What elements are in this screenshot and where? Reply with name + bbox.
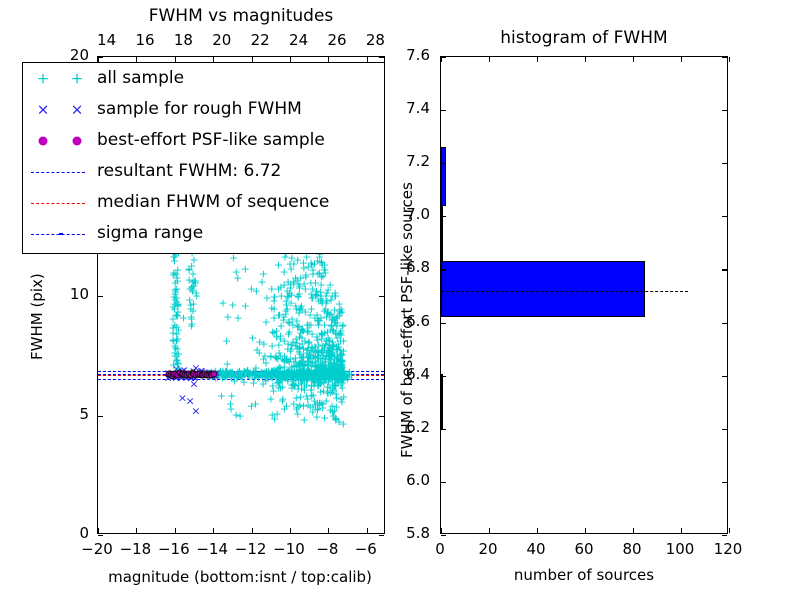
all-sample-point: +	[337, 367, 346, 378]
all-sample-point: +	[313, 405, 322, 416]
all-sample-point: +	[314, 339, 323, 350]
all-sample-point: +	[282, 295, 291, 306]
all-sample-point: +	[173, 275, 182, 286]
all-sample-point: +	[272, 367, 281, 378]
all-sample-point: +	[299, 360, 308, 371]
all-sample-point: +	[313, 345, 322, 356]
all-sample-point: +	[262, 316, 271, 327]
all-sample-point: +	[297, 367, 306, 378]
all-sample-point: +	[172, 293, 181, 304]
all-sample-point: +	[297, 333, 306, 344]
right-ytick-label: 7.2	[378, 152, 430, 170]
all-sample-point: +	[337, 354, 346, 365]
all-sample-point: +	[329, 371, 338, 382]
all-sample-point: +	[320, 371, 329, 382]
all-sample-point: +	[295, 342, 304, 353]
all-sample-point: +	[292, 403, 301, 414]
all-sample-point: +	[310, 357, 319, 368]
all-sample-point: +	[295, 348, 304, 359]
all-sample-point: +	[328, 383, 337, 394]
rough-sample-point: ×	[191, 405, 200, 416]
all-sample-point: +	[311, 291, 320, 302]
all-sample-point: +	[287, 379, 296, 390]
all-sample-point: +	[325, 342, 334, 353]
all-sample-point: +	[319, 368, 328, 379]
all-sample-point: +	[328, 314, 337, 325]
right-plot-axes[interactable]	[440, 56, 728, 534]
all-sample-point: +	[337, 371, 346, 382]
all-sample-point: +	[283, 355, 292, 366]
all-sample-point: +	[233, 371, 242, 382]
circle-icon	[39, 136, 48, 145]
all-sample-point: +	[330, 379, 339, 390]
all-sample-point: +	[174, 349, 183, 360]
all-sample-point: +	[186, 303, 195, 314]
all-sample-point: +	[307, 260, 316, 271]
all-sample-point: +	[294, 380, 303, 391]
all-sample-point: +	[320, 260, 329, 271]
all-sample-point: +	[328, 336, 337, 347]
right-xtick	[489, 528, 490, 533]
all-sample-point: +	[308, 407, 317, 418]
all-sample-point: +	[312, 411, 321, 422]
all-sample-point: +	[306, 277, 315, 288]
all-sample-point: +	[323, 347, 332, 358]
all-sample-point: +	[187, 318, 196, 329]
all-sample-point: +	[305, 367, 314, 378]
all-sample-point: +	[323, 327, 332, 338]
right-ytick	[441, 216, 446, 217]
all-sample-point: +	[320, 319, 329, 330]
all-sample-point: +	[223, 312, 232, 323]
all-sample-point: +	[280, 367, 289, 378]
all-sample-point: +	[283, 304, 292, 315]
all-sample-point: +	[335, 363, 344, 374]
all-sample-point: +	[335, 363, 344, 374]
all-sample-point: +	[308, 402, 317, 413]
all-sample-point: +	[311, 359, 320, 370]
all-sample-point: +	[189, 255, 198, 266]
all-sample-point: +	[315, 397, 324, 408]
all-sample-point: +	[335, 344, 344, 355]
all-sample-point: +	[327, 320, 336, 331]
all-sample-point: +	[226, 404, 235, 415]
right-ytick-label: 6.6	[378, 312, 430, 330]
all-sample-point: +	[317, 371, 326, 382]
right-ytick	[441, 269, 446, 270]
all-sample-point: +	[252, 285, 261, 296]
all-sample-point: +	[266, 350, 275, 361]
all-sample-point: +	[303, 344, 312, 355]
all-sample-point: +	[303, 399, 312, 410]
all-sample-point: +	[308, 283, 317, 294]
all-sample-point: +	[228, 367, 237, 378]
all-sample-point: +	[322, 295, 331, 306]
all-sample-point: +	[336, 304, 345, 315]
legend-row: ++all sample	[23, 63, 384, 94]
all-sample-point: +	[291, 272, 300, 283]
all-sample-point: +	[320, 343, 329, 354]
all-sample-point: +	[293, 401, 302, 412]
all-sample-point: +	[227, 371, 236, 382]
all-sample-point: +	[321, 303, 330, 314]
all-sample-point: +	[286, 283, 295, 294]
histogram-bar[interactable]	[441, 374, 443, 428]
all-sample-point: +	[269, 295, 278, 306]
all-sample-point: +	[336, 367, 345, 378]
all-sample-point: +	[262, 367, 271, 378]
all-sample-point: +	[299, 257, 308, 268]
all-sample-point: +	[330, 367, 339, 378]
all-sample-point: +	[302, 348, 311, 359]
all-sample-point: +	[322, 371, 331, 382]
all-sample-point: +	[339, 367, 348, 378]
all-sample-point: +	[321, 363, 330, 374]
right-ytick-right	[722, 110, 727, 111]
all-sample-point: +	[320, 328, 329, 339]
all-sample-point: +	[323, 308, 332, 319]
legend-row: median FHWM of sequence	[23, 187, 384, 218]
all-sample-point: +	[326, 364, 335, 375]
all-sample-point: +	[276, 281, 285, 292]
all-sample-point: +	[174, 324, 183, 335]
all-sample-point: +	[303, 352, 312, 363]
all-sample-point: +	[338, 375, 347, 386]
all-sample-point: +	[324, 351, 333, 362]
all-sample-point: +	[223, 359, 232, 370]
all-sample-point: +	[249, 367, 258, 378]
all-sample-point: +	[323, 344, 332, 355]
all-sample-point: +	[292, 372, 301, 383]
all-sample-point: +	[268, 380, 277, 391]
all-sample-point: +	[173, 355, 182, 366]
legend-row: sigma range	[23, 218, 384, 249]
all-sample-point: +	[326, 355, 335, 366]
all-sample-point: +	[170, 351, 179, 362]
all-sample-point: +	[274, 382, 283, 393]
all-sample-point: +	[267, 371, 276, 382]
all-sample-point: +	[299, 400, 308, 411]
all-sample-point: +	[293, 360, 302, 371]
all-sample-point: +	[270, 313, 279, 324]
all-sample-point: +	[338, 321, 347, 332]
all-sample-point: +	[338, 363, 347, 374]
all-sample-point: +	[282, 300, 291, 311]
all-sample-point: +	[315, 377, 324, 388]
all-sample-point: +	[300, 385, 309, 396]
all-sample-point: +	[333, 367, 342, 378]
all-sample-point: +	[275, 376, 284, 387]
all-sample-point: +	[299, 367, 308, 378]
all-sample-point: +	[289, 380, 298, 391]
right-xtick	[537, 528, 538, 533]
all-sample-point: +	[333, 353, 342, 364]
all-sample-point: +	[331, 412, 340, 423]
all-sample-point: +	[316, 294, 325, 305]
all-sample-point: +	[306, 371, 315, 382]
histogram-bar[interactable]	[441, 206, 443, 262]
all-sample-point: +	[266, 371, 275, 382]
all-sample-point: +	[322, 396, 331, 407]
all-sample-point: +	[325, 364, 334, 375]
all-sample-point: +	[295, 304, 304, 315]
all-sample-point: +	[295, 360, 304, 371]
all-sample-point: +	[270, 414, 279, 425]
all-sample-point: +	[300, 376, 309, 387]
all-sample-point: +	[330, 304, 339, 315]
all-sample-point: +	[310, 258, 319, 269]
all-sample-point: +	[284, 290, 293, 301]
all-sample-point: +	[303, 393, 312, 404]
all-sample-point: +	[312, 332, 321, 343]
all-sample-point: +	[299, 352, 308, 363]
all-sample-point: +	[294, 278, 303, 289]
all-sample-point: +	[302, 367, 311, 378]
all-sample-point: +	[308, 264, 317, 275]
all-sample-point: +	[173, 357, 182, 368]
all-sample-point: +	[298, 371, 307, 382]
all-sample-point: +	[280, 372, 289, 383]
all-sample-point: +	[332, 402, 341, 413]
all-sample-point: +	[295, 288, 304, 299]
all-sample-point: +	[293, 322, 302, 333]
all-sample-point: +	[171, 287, 180, 298]
all-sample-point: +	[307, 345, 316, 356]
all-sample-point: +	[289, 398, 298, 409]
all-sample-point: +	[306, 320, 315, 331]
all-sample-point: +	[286, 353, 295, 364]
all-sample-point: +	[179, 312, 188, 323]
all-sample-point: +	[297, 305, 306, 316]
all-sample-point: +	[188, 286, 197, 297]
all-sample-point: +	[297, 371, 306, 382]
all-sample-point: +	[313, 255, 322, 266]
all-sample-point: +	[303, 367, 312, 378]
all-sample-point: +	[337, 350, 346, 361]
all-sample-point: +	[286, 345, 295, 356]
all-sample-point: +	[266, 351, 275, 362]
all-sample-point: +	[297, 367, 306, 378]
all-sample-point: +	[276, 351, 285, 362]
all-sample-point: +	[280, 355, 289, 366]
all-sample-point: +	[259, 353, 268, 364]
all-sample-point: +	[328, 367, 337, 378]
all-sample-point: +	[297, 384, 306, 395]
all-sample-point: +	[307, 292, 316, 303]
left-xtick-bottom	[213, 528, 214, 533]
all-sample-point: +	[169, 301, 178, 312]
all-sample-point: +	[251, 362, 260, 373]
all-sample-point: +	[292, 367, 301, 378]
all-sample-point: +	[232, 410, 241, 421]
all-sample-point: +	[324, 357, 333, 368]
legend-label: resultant FWHM: 6.72	[97, 163, 281, 180]
right-xtick	[441, 528, 442, 533]
all-sample-point: +	[218, 368, 227, 379]
right-xtick-label: 120	[703, 540, 753, 558]
all-sample-point: +	[171, 310, 180, 321]
all-sample-point: +	[318, 297, 327, 308]
right-ytick	[441, 110, 446, 111]
right-xtick-label: 100	[655, 540, 705, 558]
all-sample-point: +	[258, 368, 267, 379]
all-sample-point: +	[325, 382, 334, 393]
all-sample-point: +	[307, 384, 316, 395]
all-sample-point: +	[293, 275, 302, 286]
all-sample-point: +	[336, 355, 345, 366]
histogram-bar[interactable]	[441, 147, 446, 205]
all-sample-point: +	[170, 320, 179, 331]
all-sample-point: +	[192, 288, 201, 299]
all-sample-point: +	[295, 331, 304, 342]
all-sample-point: +	[262, 367, 271, 378]
all-sample-point: +	[334, 375, 343, 386]
all-sample-point: +	[294, 321, 303, 332]
all-sample-point: +	[317, 257, 326, 268]
right-ytick	[441, 535, 446, 536]
right-xtick-label: 80	[607, 540, 657, 558]
all-sample-point: +	[330, 316, 339, 327]
legend-label: sample for rough FWHM	[97, 101, 302, 118]
right-ytick-right	[722, 57, 727, 58]
all-sample-point: +	[328, 342, 337, 353]
all-sample-point: +	[306, 402, 315, 413]
all-sample-point: +	[279, 314, 288, 325]
legend-row: ××sample for rough FWHM	[23, 94, 384, 125]
all-sample-point: +	[172, 322, 181, 333]
all-sample-point: +	[295, 282, 304, 293]
all-sample-point: +	[326, 351, 335, 362]
all-sample-point: +	[299, 367, 308, 378]
all-sample-point: +	[302, 391, 311, 402]
all-sample-point: +	[251, 398, 260, 409]
all-sample-point: +	[218, 298, 227, 309]
all-sample-point: +	[280, 336, 289, 347]
all-sample-point: +	[187, 283, 196, 294]
all-sample-point: +	[324, 345, 333, 356]
all-sample-point: +	[292, 316, 301, 327]
all-sample-point: +	[221, 367, 230, 378]
all-sample-point: +	[334, 354, 343, 365]
all-sample-point: +	[259, 367, 268, 378]
all-sample-point: +	[255, 348, 264, 359]
all-sample-point: +	[309, 379, 318, 390]
all-sample-point: +	[289, 277, 298, 288]
all-sample-point: +	[326, 372, 335, 383]
all-sample-point: +	[324, 376, 333, 387]
legend-marker-ex: ××	[23, 94, 97, 125]
all-sample-point: +	[293, 384, 302, 395]
all-sample-point: +	[170, 255, 179, 266]
all-sample-point: +	[298, 372, 307, 383]
all-sample-point: +	[303, 343, 312, 354]
left-xtick-bottom	[367, 528, 368, 533]
all-sample-point: +	[279, 312, 288, 323]
all-sample-point: +	[337, 396, 346, 407]
all-sample-point: +	[335, 305, 344, 316]
all-sample-point: +	[326, 372, 335, 383]
all-sample-point: +	[280, 403, 289, 414]
all-sample-point: +	[283, 338, 292, 349]
rough-sample-point: ×	[186, 396, 195, 407]
all-sample-point: +	[336, 358, 345, 369]
all-sample-point: +	[326, 324, 335, 335]
all-sample-point: +	[260, 350, 269, 361]
all-sample-point: +	[188, 285, 197, 296]
all-sample-point: +	[314, 314, 323, 325]
all-sample-point: +	[331, 328, 340, 339]
all-sample-point: +	[329, 411, 338, 422]
legend-marker-dashed	[23, 156, 97, 187]
all-sample-point: +	[292, 367, 301, 378]
all-sample-point: +	[275, 347, 284, 358]
all-sample-point: +	[332, 353, 341, 364]
all-sample-point: +	[296, 358, 305, 369]
all-sample-point: +	[321, 363, 330, 374]
all-sample-point: +	[273, 353, 282, 364]
right-ytick-label: 6.4	[378, 365, 430, 383]
all-sample-point: +	[307, 257, 316, 268]
all-sample-point: +	[317, 344, 326, 355]
all-sample-point: +	[285, 368, 294, 379]
all-sample-point: +	[266, 393, 275, 404]
all-sample-point: +	[272, 353, 281, 364]
all-sample-point: +	[328, 371, 337, 382]
all-sample-point: +	[322, 363, 331, 374]
all-sample-point: +	[282, 372, 291, 383]
all-sample-point: +	[287, 343, 296, 354]
all-sample-point: +	[337, 358, 346, 369]
all-sample-point: +	[173, 311, 182, 322]
all-sample-point: +	[299, 262, 308, 273]
all-sample-point: +	[323, 387, 332, 398]
all-sample-point: +	[274, 367, 283, 378]
all-sample-point: +	[321, 265, 330, 276]
all-sample-point: +	[336, 363, 345, 374]
all-sample-point: +	[311, 352, 320, 363]
left-ytick-right	[379, 296, 384, 297]
all-sample-point: +	[237, 372, 246, 383]
all-sample-point: +	[335, 328, 344, 339]
all-sample-point: +	[247, 283, 256, 294]
all-sample-point: +	[327, 387, 336, 398]
plot-legend: ++all sample××sample for rough FWHMbest-…	[22, 62, 385, 254]
all-sample-point: +	[318, 399, 327, 410]
all-sample-point: +	[293, 367, 302, 378]
all-sample-point: +	[335, 368, 344, 379]
all-sample-point: +	[339, 345, 348, 356]
all-sample-point: +	[297, 355, 306, 366]
all-sample-point: +	[317, 327, 326, 338]
all-sample-point: +	[276, 334, 285, 345]
all-sample-point: +	[297, 325, 306, 336]
all-sample-point: +	[288, 336, 297, 347]
all-sample-point: +	[238, 371, 247, 382]
all-sample-point: +	[337, 329, 346, 340]
all-sample-point: +	[270, 291, 279, 302]
all-sample-point: +	[171, 288, 180, 299]
histogram-bar[interactable]	[441, 261, 645, 317]
right-xtick-label: 40	[511, 540, 561, 558]
all-sample-point: +	[296, 391, 305, 402]
all-sample-point: +	[324, 285, 333, 296]
all-sample-point: +	[282, 400, 291, 411]
all-sample-point: +	[333, 310, 342, 321]
all-sample-point: +	[311, 288, 320, 299]
all-sample-point: +	[287, 290, 296, 301]
all-sample-point: +	[316, 354, 325, 365]
all-sample-point: +	[185, 284, 194, 295]
